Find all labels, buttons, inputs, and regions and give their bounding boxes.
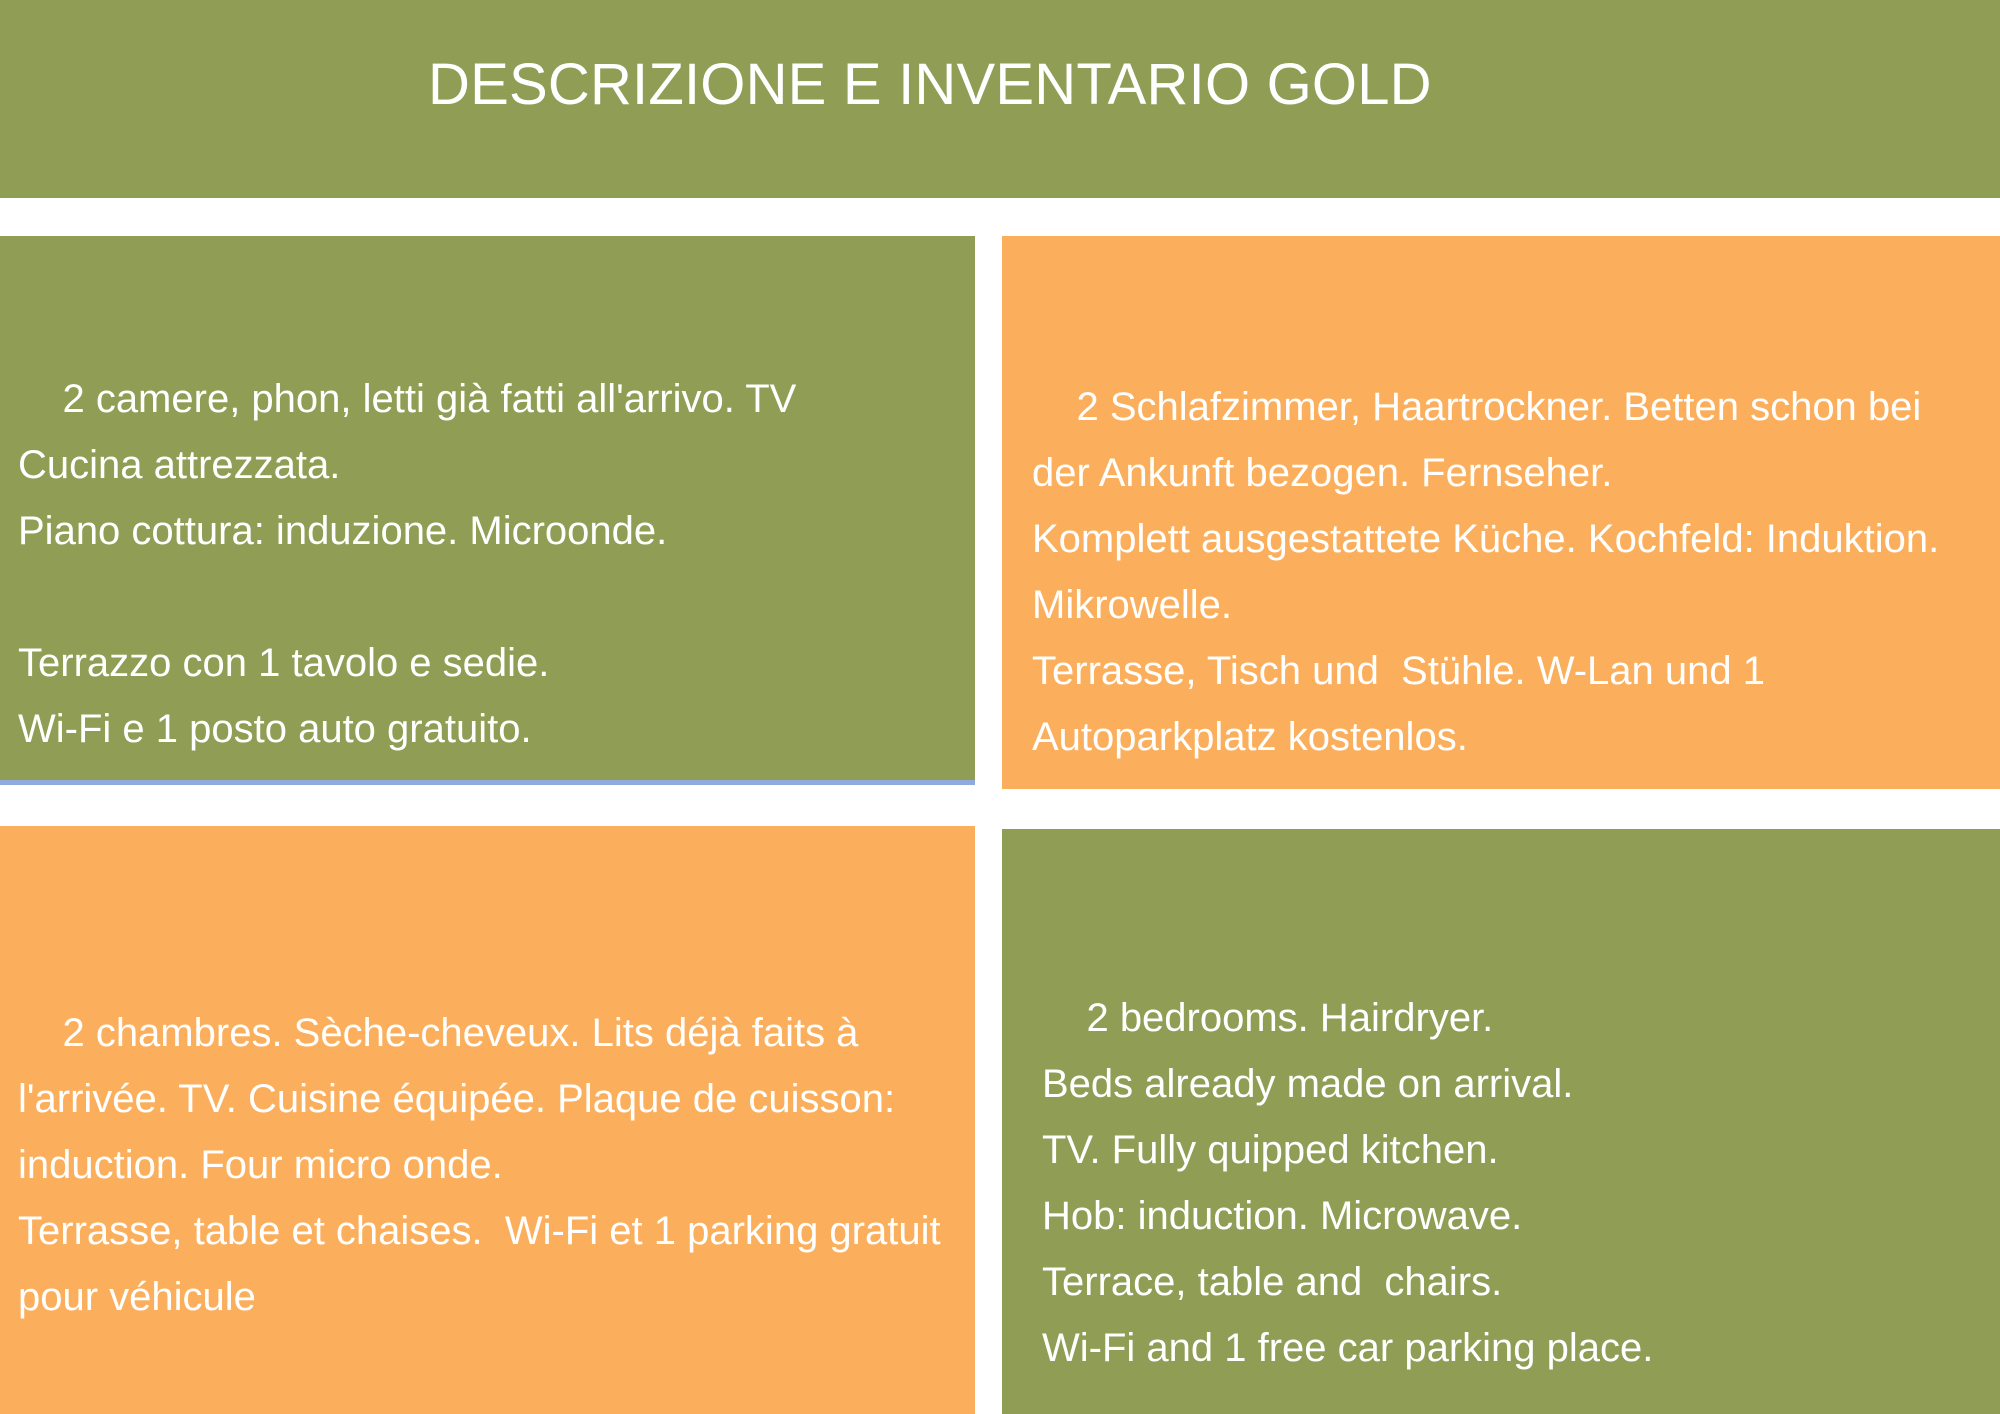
panel-body-english: 2 bedrooms. Hairdryer. Beds already made… bbox=[1042, 996, 1653, 1370]
slide-canvas: DESCRIZIONE E INVENTARIO GOLD 2 camere, … bbox=[0, 0, 2000, 1414]
description-panel-english[interactable]: 2 bedrooms. Hairdryer. Beds already made… bbox=[1002, 829, 2000, 1414]
page-title: DESCRIZIONE E INVENTARIO GOLD bbox=[428, 52, 1432, 119]
description-panel-german[interactable]: 2 Schlafzimmer, Haartrockner. Betten sch… bbox=[1002, 236, 2000, 789]
panel-body-french: 2 chambres. Sèche-cheveux. Lits déjà fai… bbox=[18, 1011, 952, 1319]
panel-body-german: 2 Schlafzimmer, Haartrockner. Betten sch… bbox=[1032, 385, 1950, 759]
description-panel-french[interactable]: 2 chambres. Sèche-cheveux. Lits déjà fai… bbox=[0, 826, 975, 1414]
panel-body-italian: 2 camere, phon, letti già fatti all'arri… bbox=[18, 377, 796, 751]
description-panel-italian[interactable]: 2 camere, phon, letti già fatti all'arri… bbox=[0, 236, 975, 785]
title-banner: DESCRIZIONE E INVENTARIO GOLD bbox=[0, 0, 2000, 198]
